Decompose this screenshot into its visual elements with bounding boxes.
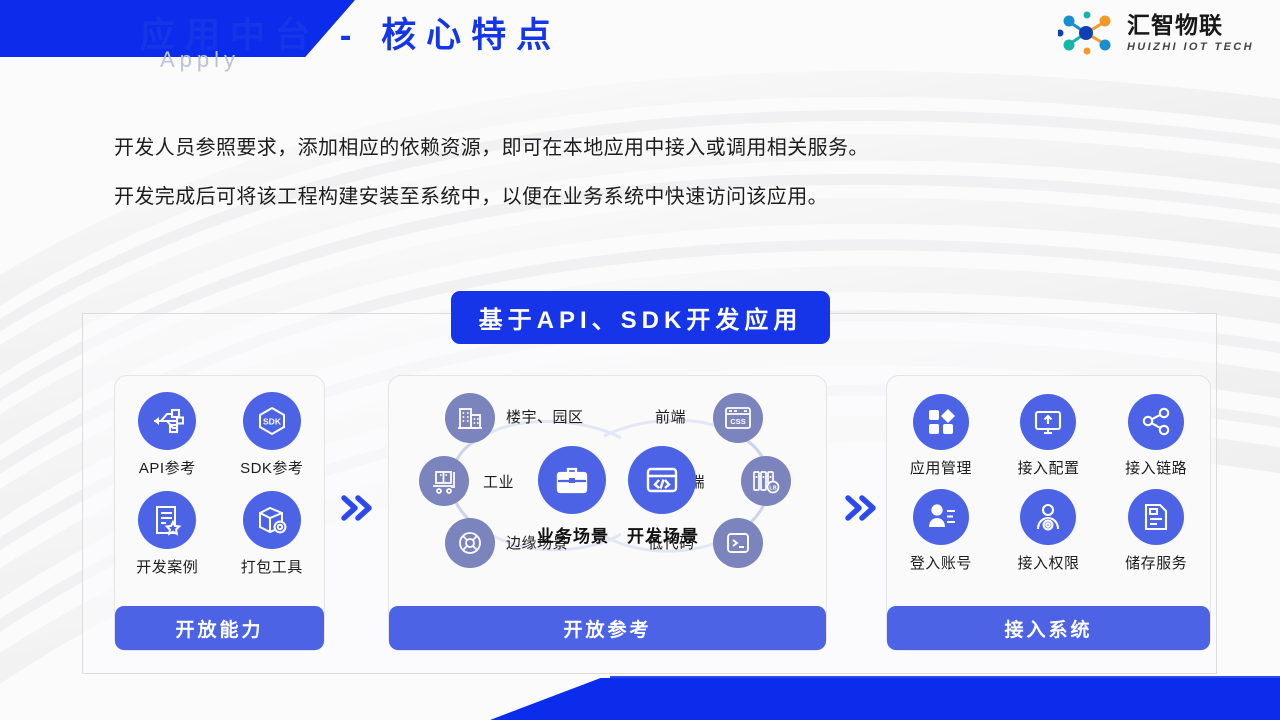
- scene-node-label: 工业: [483, 471, 514, 492]
- scene-group-title-development: 开发场景: [627, 522, 699, 547]
- scene-node-industry[interactable]: [419, 456, 469, 506]
- scene-group-title-business: 业务场景: [537, 522, 609, 547]
- scene-node-label: 前端: [655, 406, 686, 427]
- description-line-2: 开发完成后可将该工程构建安装至系统中，以便在业务系统中快速访问该应用。: [114, 185, 869, 210]
- access-item-label: 接入配置: [1017, 457, 1079, 478]
- panel-open-reference: 楼宇、园区 工业 边缘场景 业务场景: [388, 375, 827, 651]
- access-icon-grid: 应用管理 接入配置 接入链路: [887, 376, 1210, 584]
- page-header: 应用中台 - 核心特点 Apply 汇智物联 HUIZHI IOT TECH: [0, 0, 1280, 84]
- scene-node-edge[interactable]: [445, 518, 495, 568]
- access-item-app-management[interactable]: 应用管理: [887, 394, 995, 478]
- share-link-icon: [1128, 394, 1184, 450]
- diagram-banner: 基于API、SDK开发应用: [451, 291, 830, 344]
- access-item-access-config[interactable]: 接入配置: [995, 394, 1103, 478]
- access-item-label: 登入账号: [910, 552, 972, 573]
- svg-text:LB: LB: [769, 485, 776, 491]
- monitor-config-icon: [1020, 394, 1076, 450]
- double-chevron-right-icon-1: [336, 490, 376, 531]
- capability-item-sdk[interactable]: SDK SDK参考: [220, 392, 325, 478]
- scene-node-frontend[interactable]: CSS: [713, 393, 763, 443]
- open-capability-button[interactable]: 开放能力: [115, 606, 324, 650]
- svg-text:CSS: CSS: [730, 417, 746, 426]
- access-item-access-link[interactable]: 接入链路: [1102, 394, 1210, 478]
- access-item-storage-service[interactable]: 储存服务: [1102, 489, 1210, 573]
- open-reference-button[interactable]: 开放参考: [389, 606, 826, 650]
- panel-access-system: 应用管理 接入配置 接入链路: [886, 375, 1211, 651]
- scene-node-building[interactable]: [445, 393, 495, 443]
- user-account-icon: [913, 489, 969, 545]
- sdk-cube-icon: SDK: [243, 392, 301, 450]
- capability-icon-grid: API参考 SDK SDK参考 开发案例: [115, 376, 324, 590]
- scene-node-backend[interactable]: LB: [741, 456, 791, 506]
- capability-item-label: 开发案例: [136, 556, 198, 577]
- package-gear-icon: [243, 491, 301, 549]
- description-block: 开发人员参照要求，添加相应的依赖资源，即可在本地应用中接入或调用相关服务。 开发…: [114, 136, 869, 234]
- capability-item-label: API参考: [139, 457, 196, 478]
- code-window-icon: [628, 446, 696, 514]
- brand-logo: 汇智物联 HUIZHI IOT TECH: [1058, 10, 1254, 56]
- access-item-label: 储存服务: [1125, 552, 1187, 573]
- access-item-login-account[interactable]: 登入账号: [887, 489, 995, 573]
- capability-item-case[interactable]: 开发案例: [115, 491, 220, 577]
- api-branch-icon: [138, 392, 196, 450]
- footer-accent-line: [610, 676, 1280, 678]
- logo-text-en: HUIZHI IOT TECH: [1127, 42, 1254, 53]
- scene-node-lowcode[interactable]: [713, 518, 763, 568]
- page-subtitle: Apply: [160, 47, 240, 73]
- panel-open-capability: API参考 SDK SDK参考 开发案例: [114, 375, 325, 651]
- description-line-1: 开发人员参照要求，添加相应的依赖资源，即可在本地应用中接入或调用相关服务。: [114, 136, 869, 161]
- capability-item-packaging[interactable]: 打包工具: [220, 491, 325, 577]
- file-storage-icon: [1128, 489, 1184, 545]
- briefcase-icon: [538, 446, 606, 514]
- svg-text:SDK: SDK: [263, 417, 282, 427]
- grid-apps-icon: [913, 394, 969, 450]
- capability-item-label: SDK参考: [240, 457, 303, 478]
- access-system-button[interactable]: 接入系统: [887, 606, 1210, 650]
- access-item-label: 应用管理: [910, 457, 972, 478]
- logo-text-cn: 汇智物联: [1127, 14, 1254, 37]
- footer-accent-shape: [490, 678, 1280, 720]
- access-item-access-permission[interactable]: 接入权限: [995, 489, 1103, 573]
- access-item-label: 接入权限: [1017, 552, 1079, 573]
- capability-item-label: 打包工具: [241, 556, 303, 577]
- double-chevron-right-icon-2: [840, 490, 880, 531]
- access-item-label: 接入链路: [1125, 457, 1187, 478]
- user-permission-icon: [1020, 489, 1076, 545]
- capability-item-api[interactable]: API参考: [115, 392, 220, 478]
- scene-node-label: 楼宇、园区: [506, 406, 584, 427]
- molecule-network-icon: [1058, 10, 1118, 56]
- document-star-icon: [138, 491, 196, 549]
- scene-diagram: 楼宇、园区 工业 边缘场景 业务场景: [389, 376, 828, 608]
